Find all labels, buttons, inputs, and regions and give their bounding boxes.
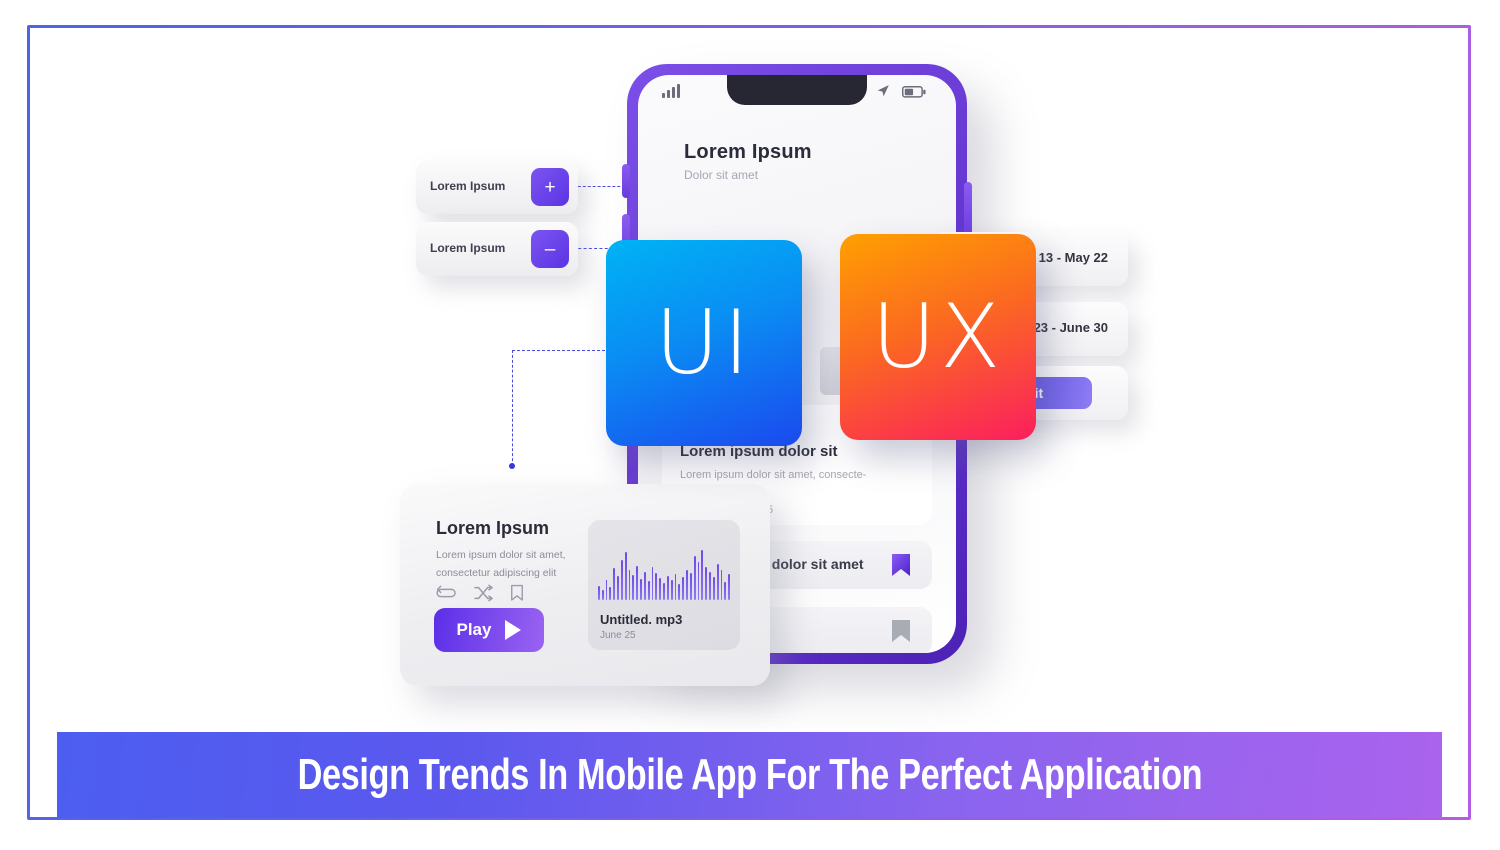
waveform-bar: [640, 579, 642, 600]
waveform-bar: [698, 562, 700, 600]
location-arrow-icon: [876, 84, 890, 98]
bookmark-icon[interactable]: [510, 584, 524, 602]
connector-line-3: [512, 350, 620, 351]
banner-title: Design Trends In Mobile App For The Perf…: [297, 750, 1202, 800]
connector-dot-3: [509, 463, 515, 469]
ui-tile[interactable]: UI: [606, 240, 802, 446]
audio-waveform: [598, 542, 730, 600]
waveform-bar: [667, 576, 669, 600]
waveform-bar: [613, 568, 615, 600]
waveform-bar: [713, 577, 715, 600]
bookmark-icon[interactable]: [890, 618, 912, 644]
waveform-bar: [655, 573, 657, 600]
play-button[interactable]: Play: [434, 608, 544, 652]
player-title: Lorem Ipsum: [436, 518, 549, 539]
waveform-bar: [659, 578, 661, 600]
waveform-bar: [644, 572, 646, 600]
play-triangle-icon: [505, 620, 521, 640]
waveform-bar: [721, 570, 723, 600]
bottom-banner: Design Trends In Mobile App For The Perf…: [57, 732, 1442, 818]
waveform-bar: [709, 572, 711, 600]
waveform-bar: [648, 581, 650, 600]
mini-card-remove[interactable]: Lorem Ipsum –: [416, 222, 578, 276]
ui-tile-label: UI: [655, 299, 753, 387]
player-description: Lorem ipsum dolor sit amet, consectetur …: [436, 547, 596, 583]
signal-bars-icon: [662, 84, 680, 98]
music-player-card: Lorem Ipsum Lorem ipsum dolor sit amet, …: [400, 484, 770, 686]
waveform-bar: [606, 580, 608, 600]
bookmark-icon[interactable]: [890, 552, 912, 578]
illustration-stage: Lorem Ipsum Dolor sit amet Wed Lorem ips…: [0, 0, 1500, 730]
waveform-bar: [728, 574, 730, 600]
waveform-bar: [632, 575, 634, 600]
waveform-bar: [636, 566, 638, 600]
waveform-bar: [652, 567, 654, 600]
player-icon-row: [436, 584, 524, 602]
waveform-bar: [717, 564, 719, 600]
detail-desc: Lorem ipsum dolor sit amet, consecte-: [680, 467, 866, 484]
waveform-bar: [617, 576, 619, 600]
waveform-bar: [602, 590, 604, 600]
ux-tile[interactable]: UX: [840, 234, 1036, 440]
waveform-bar: [621, 560, 623, 600]
waveform-bar: [671, 580, 673, 600]
status-bar: [638, 75, 956, 109]
phone-side-button-mute[interactable]: [622, 164, 630, 198]
screen-subtitle: Dolor sit amet: [684, 168, 758, 182]
mini-card-label: Lorem Ipsum: [430, 179, 505, 193]
battery-icon: [902, 86, 926, 98]
waveform-bar: [609, 587, 611, 600]
track-card[interactable]: Untitled. mp3 June 25: [588, 520, 740, 650]
screen-title: Lorem Ipsum: [684, 141, 812, 164]
waveform-bar: [629, 570, 631, 600]
play-button-label: Play: [457, 620, 492, 640]
waveform-bar: [690, 573, 692, 600]
waveform-bar: [694, 556, 696, 600]
waveform-bar: [705, 567, 707, 600]
waveform-bar: [598, 586, 600, 600]
waveform-bar: [724, 582, 726, 600]
waveform-bar: [686, 570, 688, 600]
waveform-bar: [701, 550, 703, 600]
mini-card-add[interactable]: Lorem Ipsum +: [416, 160, 578, 214]
repeat-icon[interactable]: [436, 584, 458, 602]
ux-tile-label: UX: [872, 293, 1005, 381]
waveform-bar: [678, 584, 680, 600]
waveform-bar: [663, 583, 665, 600]
minus-button[interactable]: –: [531, 230, 569, 268]
track-title: Untitled. mp3: [600, 612, 682, 627]
mini-card-label: Lorem Ipsum: [430, 241, 505, 255]
plus-button[interactable]: +: [531, 168, 569, 206]
waveform-bar: [625, 552, 627, 600]
waveform-bar: [682, 577, 684, 600]
track-date: June 25: [600, 630, 636, 641]
connector-line-4: [512, 350, 513, 466]
waveform-bar: [675, 574, 677, 600]
shuffle-icon[interactable]: [474, 584, 494, 602]
